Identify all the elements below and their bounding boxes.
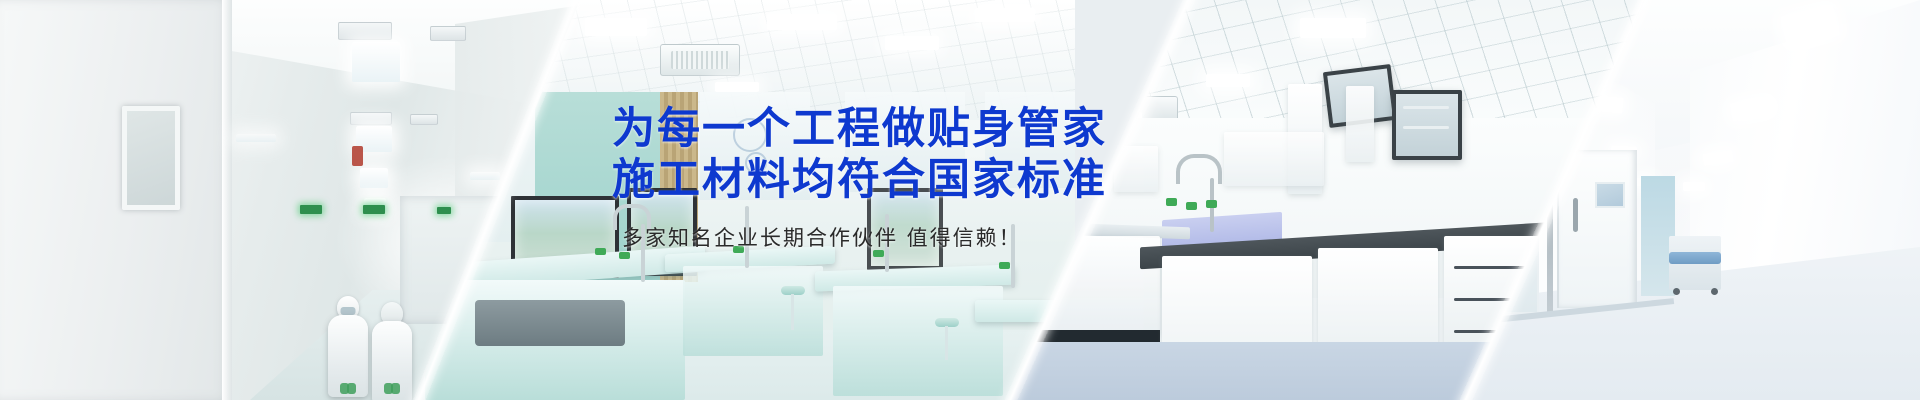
banner-subtitle: 多家知名企业长期合作伙伴 值得信赖！ bbox=[622, 222, 1107, 252]
ceiling-vent bbox=[338, 22, 392, 40]
exit-sign-left bbox=[300, 205, 322, 214]
fume-hood-right bbox=[1392, 90, 1462, 160]
gas-valve bbox=[1186, 202, 1197, 210]
panel-light bbox=[975, 8, 1035, 22]
headline-line-1: 为每一个工程做贴身管家 bbox=[612, 104, 1107, 155]
ceiling-lamp bbox=[352, 42, 400, 82]
lab-bench-body bbox=[683, 266, 823, 356]
worker-glove bbox=[384, 383, 393, 394]
panel-light bbox=[585, 18, 647, 36]
lab-faucet bbox=[1176, 154, 1222, 184]
door-edge bbox=[222, 0, 232, 400]
wall-cabinet bbox=[1346, 86, 1374, 162]
ceiling-light bbox=[1683, 182, 1705, 191]
gas-valve bbox=[1166, 198, 1177, 206]
door-vision-panel bbox=[1595, 182, 1625, 208]
hood-shelf bbox=[1403, 126, 1449, 129]
fire-alarm-icon bbox=[352, 146, 363, 166]
corridor-left-wall bbox=[0, 0, 230, 400]
cart-wheel bbox=[1711, 288, 1718, 295]
ceiling-vent bbox=[410, 114, 438, 125]
exit-sign-center bbox=[363, 205, 385, 214]
ac-diffuser bbox=[660, 44, 740, 76]
wall-light-reflection bbox=[236, 134, 276, 142]
promo-banner: 为每一个工程做贴身管家 施工材料均符合国家标准 多家知名企业长期合作伙伴 值得信… bbox=[0, 0, 1920, 400]
medical-cart-top bbox=[1669, 252, 1721, 264]
hood-shelf bbox=[1403, 106, 1449, 109]
door-handle bbox=[1573, 198, 1578, 232]
exit-sign-right bbox=[437, 207, 451, 214]
ceiling-vent bbox=[430, 26, 466, 41]
ceiling-lamp bbox=[360, 168, 388, 188]
gas-valve bbox=[595, 248, 606, 255]
gas-valve bbox=[999, 262, 1010, 269]
lab-stool-leg bbox=[945, 326, 948, 360]
panel-light bbox=[1206, 74, 1250, 87]
gas-valve bbox=[1206, 200, 1217, 208]
panel-light bbox=[767, 14, 837, 30]
panel-light bbox=[885, 36, 939, 50]
lab-sink bbox=[475, 300, 625, 346]
panel-light bbox=[1300, 18, 1366, 38]
banner-copy: 为每一个工程做贴身管家 施工材料均符合国家标准 多家知名企业长期合作伙伴 值得信… bbox=[612, 104, 1107, 252]
ceiling-vent bbox=[350, 112, 392, 125]
panel-light bbox=[715, 82, 759, 92]
cart-wheel bbox=[1673, 288, 1680, 295]
lab-stool-leg bbox=[791, 294, 794, 330]
gas-valve bbox=[619, 252, 630, 259]
wall-shelf bbox=[1224, 132, 1324, 186]
worker-glove bbox=[340, 383, 349, 394]
ceiling-lamp bbox=[470, 172, 500, 180]
door-window bbox=[122, 106, 180, 210]
worker-mask bbox=[341, 307, 356, 315]
headline-line-2: 施工材料均符合国家标准 bbox=[612, 155, 1107, 206]
